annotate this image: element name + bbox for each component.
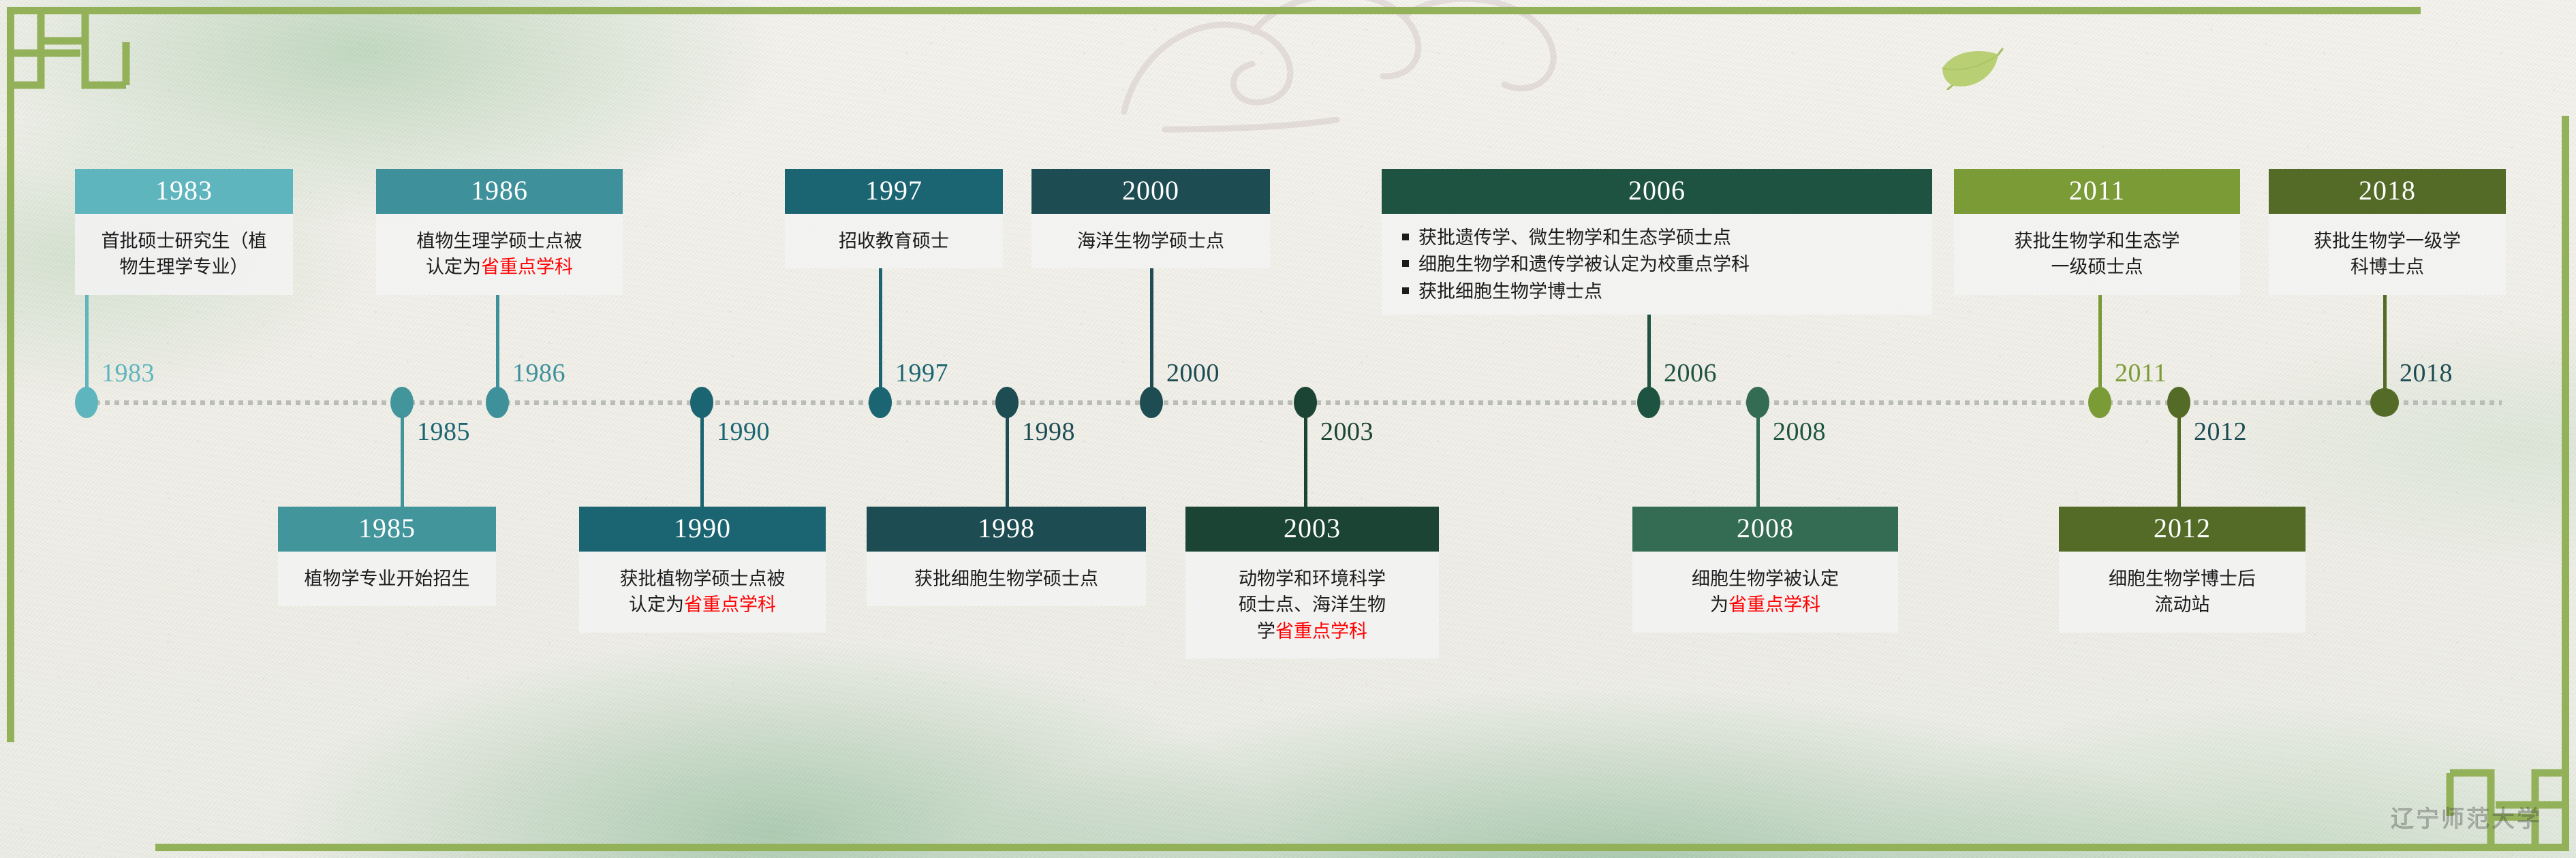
timeline-card-year-1986: 1986 [376, 169, 623, 214]
timeline-card-line: 获批细胞生物学硕士点 [878, 567, 1135, 592]
axis-year-label-2008: 2008 [1773, 419, 1826, 445]
timeline-card-year-1997: 1997 [785, 169, 1003, 214]
timeline-card-year-2000: 2000 [1031, 169, 1270, 214]
timeline-bullet: 获批遗传学、微生物学和生态学硕士点 [1402, 225, 1914, 251]
timeline-card-year-2006: 2006 [1382, 169, 1932, 214]
timeline-card-line: 招收教育硕士 [796, 229, 992, 255]
timeline-node-2012[interactable] [2167, 387, 2190, 418]
plain-text: 认定为 [426, 257, 481, 278]
bullet-square-icon [1402, 287, 1409, 294]
timeline-card-year-2011: 2011 [1954, 169, 2240, 214]
timeline-card-line: 硕士点、海洋生物 [1196, 592, 1428, 618]
timeline-card-year-2008: 2008 [1632, 507, 1898, 552]
axis-year-label-2006: 2006 [1664, 360, 1717, 386]
timeline-connector-2008 [1756, 402, 1760, 511]
timeline-bullet-text: 获批遗传学、微生物学和生态学硕士点 [1418, 225, 1731, 251]
timeline-connector-1997 [879, 268, 882, 402]
timeline-card-line: 获批生物学一级学 [2280, 229, 2495, 255]
timeline-card-body-1997: 招收教育硕士 [785, 214, 1003, 268]
timeline-card-line: 动物学和环境科学 [1196, 567, 1428, 592]
timeline-node-1985[interactable] [390, 387, 414, 418]
timeline-card-body-2012: 细胞生物学博士后流动站 [2059, 552, 2306, 633]
timeline-node-1986[interactable] [486, 387, 509, 418]
timeline-card-line: 一级硕士点 [1965, 255, 2229, 281]
timeline-connector-2018 [2383, 295, 2387, 402]
timeline-bullet: 获批细胞生物学博士点 [1402, 279, 1914, 305]
border-edge-top [155, 7, 2421, 14]
timeline-card-line: 细胞生物学被认定 [1643, 567, 1887, 592]
timeline-card-line: 学省重点学科 [1196, 619, 1428, 645]
timeline-card-line: 认定为省重点学科 [387, 255, 612, 281]
axis-year-label-2000: 2000 [1166, 360, 1220, 386]
timeline-card-body-2008: 细胞生物学被认定为省重点学科 [1632, 552, 1898, 633]
border-edge-right [2562, 116, 2569, 742]
timeline-node-2006[interactable] [1637, 387, 1660, 418]
timeline-card-1997: 1997招收教育硕士 [785, 169, 1003, 268]
timeline-connector-1985 [401, 402, 404, 511]
axis-year-label-1997: 1997 [895, 360, 948, 386]
timeline-node-1998[interactable] [995, 387, 1019, 418]
timeline-card-2000: 2000海洋生物学硕士点 [1031, 169, 1270, 268]
axis-year-label-1990: 1990 [717, 419, 770, 445]
timeline-card-line: 流动站 [2070, 592, 2295, 618]
timeline-card-body-2011: 获批生物学和生态学一级硕士点 [1954, 214, 2240, 295]
timeline-card-year-1983: 1983 [75, 169, 293, 214]
timeline-node-2018[interactable] [2370, 388, 2399, 417]
timeline-card-body-2003: 动物学和环境科学硕士点、海洋生物学省重点学科 [1185, 552, 1439, 658]
timeline-card-year-2018: 2018 [2269, 169, 2506, 214]
axis-year-label-1998: 1998 [1022, 419, 1075, 445]
timeline-card-1998: 1998获批细胞生物学硕士点 [867, 507, 1146, 606]
highlight-text: 省重点学科 [481, 257, 573, 278]
timeline-card-year-1990: 1990 [579, 507, 826, 552]
bullet-square-icon [1402, 234, 1409, 240]
axis-year-label-2012: 2012 [2194, 419, 2247, 445]
timeline-card-line: 科博士点 [2280, 255, 2495, 281]
axis-year-label-2018: 2018 [2400, 360, 2453, 386]
timeline-card-year-2012: 2012 [2059, 507, 2306, 552]
timeline-card-body-1983: 首批硕士研究生（植物生理学专业） [75, 214, 293, 295]
timeline-card-body-1998: 获批细胞生物学硕士点 [867, 552, 1146, 606]
timeline-card-line: 获批植物学硕士点被 [590, 567, 815, 592]
timeline-card-2012: 2012细胞生物学博士后流动站 [2059, 507, 2306, 633]
timeline-card-body-2000: 海洋生物学硕士点 [1031, 214, 1270, 268]
timeline-card-body-1986: 植物生理学硕士点被认定为省重点学科 [376, 214, 623, 295]
timeline-card-body-1990: 获批植物学硕士点被认定为省重点学科 [579, 552, 826, 633]
timeline-card-body-2018: 获批生物学一级学科博士点 [2269, 214, 2506, 295]
timeline-card-line: 获批生物学和生态学 [1965, 229, 2229, 255]
timeline-card-line: 物生理学专业） [86, 255, 282, 281]
timeline-card-2011: 2011获批生物学和生态学一级硕士点 [1954, 169, 2240, 295]
bullet-square-icon [1402, 260, 1409, 267]
highlight-text: 省重点学科 [684, 594, 776, 616]
timeline-connector-2000 [1150, 268, 1153, 402]
timeline-card-year-1985: 1985 [278, 507, 496, 552]
timeline-connector-1990 [700, 402, 704, 511]
timeline-connector-2003 [1304, 402, 1307, 511]
timeline-card-2003: 2003动物学和环境科学硕士点、海洋生物学省重点学科 [1185, 507, 1439, 658]
timeline-card-line: 植物生理学硕士点被 [387, 229, 612, 255]
timeline-card-1985: 1985植物学专业开始招生 [278, 507, 496, 606]
timeline-card-line: 细胞生物学博士后 [2070, 567, 2295, 592]
timeline-node-1990[interactable] [690, 387, 713, 418]
timeline-node-2008[interactable] [1746, 387, 1769, 418]
timeline-card-body-1985: 植物学专业开始招生 [278, 552, 496, 606]
axis-year-label-2003: 2003 [1320, 419, 1374, 445]
paper-fiber-overlay [0, 0, 2576, 858]
border-edge-bottom [155, 844, 2421, 851]
timeline-axis [76, 400, 2502, 405]
timeline-bullet-text: 获批细胞生物学博士点 [1418, 279, 1602, 305]
timeline-card-line: 认定为省重点学科 [590, 592, 815, 618]
timeline-card-line: 首批硕士研究生（植 [86, 229, 282, 255]
timeline-canvas: 辽宁师范大学 1983首批硕士研究生（植物生理学专业）19831986植物生理学… [0, 0, 2576, 858]
plain-text: 学 [1257, 621, 1275, 642]
axis-year-label-1985: 1985 [417, 419, 470, 445]
timeline-bullet-text: 细胞生物学和遗传学被认定为校重点学科 [1418, 251, 1750, 278]
timeline-node-2003[interactable] [1294, 387, 1317, 418]
timeline-card-line: 为省重点学科 [1643, 592, 1887, 618]
axis-year-label-2011: 2011 [2115, 360, 2167, 386]
timeline-bullet: 细胞生物学和遗传学被认定为校重点学科 [1402, 251, 1914, 278]
plain-text: 为 [1710, 594, 1728, 616]
timeline-card-2006: 2006获批遗传学、微生物学和生态学硕士点细胞生物学和遗传学被认定为校重点学科获… [1382, 169, 1932, 315]
timeline-card-line: 植物学专业开始招生 [289, 567, 485, 592]
timeline-node-1997[interactable] [869, 387, 892, 418]
timeline-card-1990: 1990获批植物学硕士点被认定为省重点学科 [579, 507, 826, 633]
axis-year-label-1986: 1986 [512, 360, 565, 386]
timeline-node-2011[interactable] [2088, 387, 2111, 418]
border-edge-left [7, 116, 14, 742]
highlight-text: 省重点学科 [1275, 621, 1367, 642]
timeline-card-year-2003: 2003 [1185, 507, 1439, 552]
timeline-card-2018: 2018获批生物学一级学科博士点 [2269, 169, 2506, 295]
timeline-node-2000[interactable] [1140, 387, 1163, 418]
timeline-card-1986: 1986植物生理学硕士点被认定为省重点学科 [376, 169, 623, 295]
highlight-text: 省重点学科 [1728, 594, 1820, 616]
timeline-card-1983: 1983首批硕士研究生（植物生理学专业） [75, 169, 293, 295]
leaf-ornament [1938, 48, 2004, 90]
timeline-card-2008: 2008细胞生物学被认定为省重点学科 [1632, 507, 1898, 633]
timeline-connector-1998 [1006, 402, 1009, 511]
timeline-card-year-1998: 1998 [867, 507, 1146, 552]
university-watermark: 辽宁师范大学 [2391, 800, 2542, 833]
timeline-card-body-2006: 获批遗传学、微生物学和生态学硕士点细胞生物学和遗传学被认定为校重点学科获批细胞生… [1382, 214, 1932, 315]
timeline-node-1983[interactable] [75, 387, 98, 418]
plain-text: 认定为 [629, 594, 684, 616]
timeline-connector-2012 [2177, 402, 2181, 511]
axis-year-label-1983: 1983 [102, 360, 155, 386]
timeline-card-line: 海洋生物学硕士点 [1042, 229, 1259, 255]
